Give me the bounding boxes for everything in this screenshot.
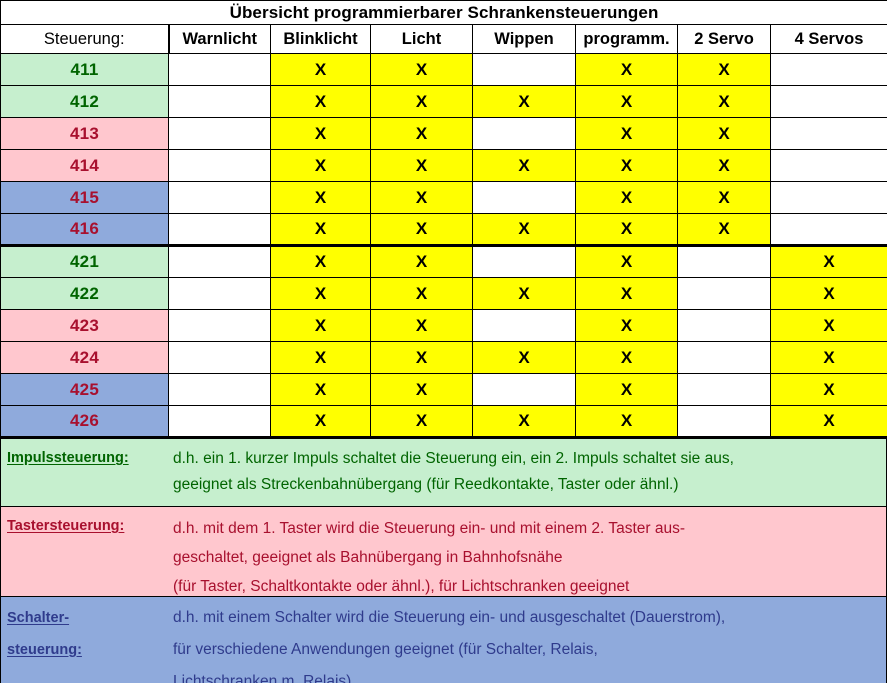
row-label-416: 416 xyxy=(1,214,169,246)
cell-413-programm: X xyxy=(576,118,678,150)
table-header-row: Steuerung:WarnlichtBlinklichtLichtWippen… xyxy=(1,25,887,54)
column-header-licht: Licht xyxy=(371,25,473,54)
row-label-411: 411 xyxy=(1,54,169,86)
cell-425-4-servos: X xyxy=(771,374,887,406)
cell-424-2-servo xyxy=(678,342,771,374)
column-header-blinklicht: Blinklicht xyxy=(271,25,371,54)
table-row: 411XXXX xyxy=(1,54,887,86)
table-row: 422XXXXX xyxy=(1,278,887,310)
row-label-423: 423 xyxy=(1,310,169,342)
cell-423-2-servo xyxy=(678,310,771,342)
cell-425-licht: X xyxy=(371,374,473,406)
cell-414-4-servos xyxy=(771,150,887,182)
cell-422-4-servos: X xyxy=(771,278,887,310)
cell-421-wippen xyxy=(473,246,576,278)
row-label-426: 426 xyxy=(1,406,169,438)
cell-424-wippen: X xyxy=(473,342,576,374)
cell-412-2-servo: X xyxy=(678,86,771,118)
row-label-413: 413 xyxy=(1,118,169,150)
cell-422-programm: X xyxy=(576,278,678,310)
cell-422-wippen: X xyxy=(473,278,576,310)
row-label-422: 422 xyxy=(1,278,169,310)
table-row: 416XXXXX xyxy=(1,214,887,246)
cell-426-warnlicht xyxy=(169,406,271,438)
cell-412-wippen: X xyxy=(473,86,576,118)
cell-422-licht: X xyxy=(371,278,473,310)
cell-414-blinklicht: X xyxy=(271,150,371,182)
cell-414-licht: X xyxy=(371,150,473,182)
cell-424-warnlicht xyxy=(169,342,271,374)
table-row: 414XXXXX xyxy=(1,150,887,182)
table-row: 412XXXXX xyxy=(1,86,887,118)
cell-413-warnlicht xyxy=(169,118,271,150)
cell-416-wippen: X xyxy=(473,214,576,246)
column-header-programm: programm. xyxy=(576,25,678,54)
cell-426-blinklicht: X xyxy=(271,406,371,438)
cell-416-warnlicht xyxy=(169,214,271,246)
cell-414-2-servo: X xyxy=(678,150,771,182)
cell-415-warnlicht xyxy=(169,182,271,214)
cell-422-warnlicht xyxy=(169,278,271,310)
table-row: 426XXXXX xyxy=(1,406,887,438)
legend-taster-label-text: Tastersteuerung: xyxy=(7,514,124,539)
cell-415-programm: X xyxy=(576,182,678,214)
legend-schalter-label: Schalter- steuerung: xyxy=(1,597,169,666)
cell-414-programm: X xyxy=(576,150,678,182)
legend-impuls-body: d.h. ein 1. kurzer Impuls schaltet die S… xyxy=(169,439,886,498)
table-row: 423XXXX xyxy=(1,310,887,342)
cell-423-wippen xyxy=(473,310,576,342)
legend-impuls-label: Impulssteuerung: xyxy=(1,439,169,471)
legend-schalter-line-2: für verschiedene Anwendungen geeignet (f… xyxy=(173,634,880,666)
legend-taster-label: Tastersteuerung: xyxy=(1,507,169,539)
cell-426-licht: X xyxy=(371,406,473,438)
page-title: Übersicht programmierbarer Schrankensteu… xyxy=(1,1,887,25)
row-label-414: 414 xyxy=(1,150,169,182)
cell-421-licht: X xyxy=(371,246,473,278)
table-body: 411XXXX412XXXXX413XXXX414XXXXX415XXXX416… xyxy=(1,54,887,438)
cell-416-2-servo: X xyxy=(678,214,771,246)
cell-411-blinklicht: X xyxy=(271,54,371,86)
row-label-421: 421 xyxy=(1,246,169,278)
cell-424-programm: X xyxy=(576,342,678,374)
cell-421-programm: X xyxy=(576,246,678,278)
cell-413-2-servo: X xyxy=(678,118,771,150)
cell-421-warnlicht xyxy=(169,246,271,278)
legend-schalter-line-1: d.h. mit einem Schalter wird die Steueru… xyxy=(173,602,880,634)
legend-taster-line-3: (für Taster, Schaltkontakte oder ähnl.),… xyxy=(173,572,880,597)
table-row: 413XXXX xyxy=(1,118,887,150)
table-row: 415XXXX xyxy=(1,182,887,214)
cell-413-wippen xyxy=(473,118,576,150)
column-header-steuerung: Steuerung: xyxy=(1,25,169,54)
cell-414-warnlicht xyxy=(169,150,271,182)
cell-415-2-servo: X xyxy=(678,182,771,214)
cell-421-2-servo xyxy=(678,246,771,278)
legend-impuls-line-2: geeignet als Streckenbahnübergang (für R… xyxy=(173,472,880,498)
cell-423-4-servos: X xyxy=(771,310,887,342)
legend-schaltersteuerung: Schalter- steuerung: d.h. mit einem Scha… xyxy=(0,597,887,683)
table-row: 421XXXX xyxy=(1,246,887,278)
legend-schalter-label-line-1: Schalter- xyxy=(7,602,69,634)
cell-425-programm: X xyxy=(576,374,678,406)
cell-413-4-servos xyxy=(771,118,887,150)
cell-411-4-servos xyxy=(771,54,887,86)
cell-425-blinklicht: X xyxy=(271,374,371,406)
column-header-4-servos: 4 Servos xyxy=(771,25,887,54)
legend-impulssteuerung: Impulssteuerung: d.h. ein 1. kurzer Impu… xyxy=(0,439,887,507)
row-label-425: 425 xyxy=(1,374,169,406)
table-row: 425XXXX xyxy=(1,374,887,406)
cell-416-programm: X xyxy=(576,214,678,246)
legend-taster-body: d.h. mit dem 1. Taster wird die Steuerun… xyxy=(169,507,886,597)
cell-424-4-servos: X xyxy=(771,342,887,374)
legend-schalter-body: d.h. mit einem Schalter wird die Steueru… xyxy=(169,597,886,683)
cell-412-blinklicht: X xyxy=(271,86,371,118)
cell-426-2-servo xyxy=(678,406,771,438)
cell-411-programm: X xyxy=(576,54,678,86)
cell-411-licht: X xyxy=(371,54,473,86)
cell-425-warnlicht xyxy=(169,374,271,406)
legend-tastersteuerung: Tastersteuerung: d.h. mit dem 1. Taster … xyxy=(0,507,887,597)
cell-426-4-servos: X xyxy=(771,406,887,438)
legend-taster-line-2: geschaltet, geeignet als Bahnübergang in… xyxy=(173,543,880,572)
cell-414-wippen: X xyxy=(473,150,576,182)
cell-425-2-servo xyxy=(678,374,771,406)
cell-415-blinklicht: X xyxy=(271,182,371,214)
cell-426-programm: X xyxy=(576,406,678,438)
cell-415-wippen xyxy=(473,182,576,214)
cell-411-wippen xyxy=(473,54,576,86)
cell-412-warnlicht xyxy=(169,86,271,118)
legend-impuls-line-1: d.h. ein 1. kurzer Impuls schaltet die S… xyxy=(173,446,880,472)
cell-412-licht: X xyxy=(371,86,473,118)
cell-424-licht: X xyxy=(371,342,473,374)
column-header-warnlicht: Warnlicht xyxy=(169,25,271,54)
cell-416-4-servos xyxy=(771,214,887,246)
legend-impuls-label-text: Impulssteuerung: xyxy=(7,446,129,471)
column-header-wippen: Wippen xyxy=(473,25,576,54)
cell-415-4-servos xyxy=(771,182,887,214)
cell-412-programm: X xyxy=(576,86,678,118)
cell-423-programm: X xyxy=(576,310,678,342)
spreadsheet-page: Übersicht programmierbarer Schrankensteu… xyxy=(0,0,887,683)
cell-413-licht: X xyxy=(371,118,473,150)
cell-416-blinklicht: X xyxy=(271,214,371,246)
cell-421-blinklicht: X xyxy=(271,246,371,278)
cell-423-blinklicht: X xyxy=(271,310,371,342)
cell-424-blinklicht: X xyxy=(271,342,371,374)
cell-425-wippen xyxy=(473,374,576,406)
legend-taster-line-1: d.h. mit dem 1. Taster wird die Steuerun… xyxy=(173,514,880,543)
cell-423-licht: X xyxy=(371,310,473,342)
column-header-2-servo: 2 Servo xyxy=(678,25,771,54)
legend-schalter-line-3: Lichtschranken m. Relais) xyxy=(173,666,880,683)
legend-schalter-label-line-2: steuerung: xyxy=(7,634,82,666)
cell-416-licht: X xyxy=(371,214,473,246)
title-row: Übersicht programmierbarer Schrankensteu… xyxy=(1,1,887,25)
cell-426-wippen: X xyxy=(473,406,576,438)
cell-421-4-servos: X xyxy=(771,246,887,278)
cell-422-blinklicht: X xyxy=(271,278,371,310)
row-label-415: 415 xyxy=(1,182,169,214)
table-row: 424XXXXX xyxy=(1,342,887,374)
cell-413-blinklicht: X xyxy=(271,118,371,150)
cell-415-licht: X xyxy=(371,182,473,214)
cell-423-warnlicht xyxy=(169,310,271,342)
row-label-412: 412 xyxy=(1,86,169,118)
cell-412-4-servos xyxy=(771,86,887,118)
row-label-424: 424 xyxy=(1,342,169,374)
cell-422-2-servo xyxy=(678,278,771,310)
cell-411-2-servo: X xyxy=(678,54,771,86)
overview-table: Übersicht programmierbarer Schrankensteu… xyxy=(0,0,887,439)
cell-411-warnlicht xyxy=(169,54,271,86)
